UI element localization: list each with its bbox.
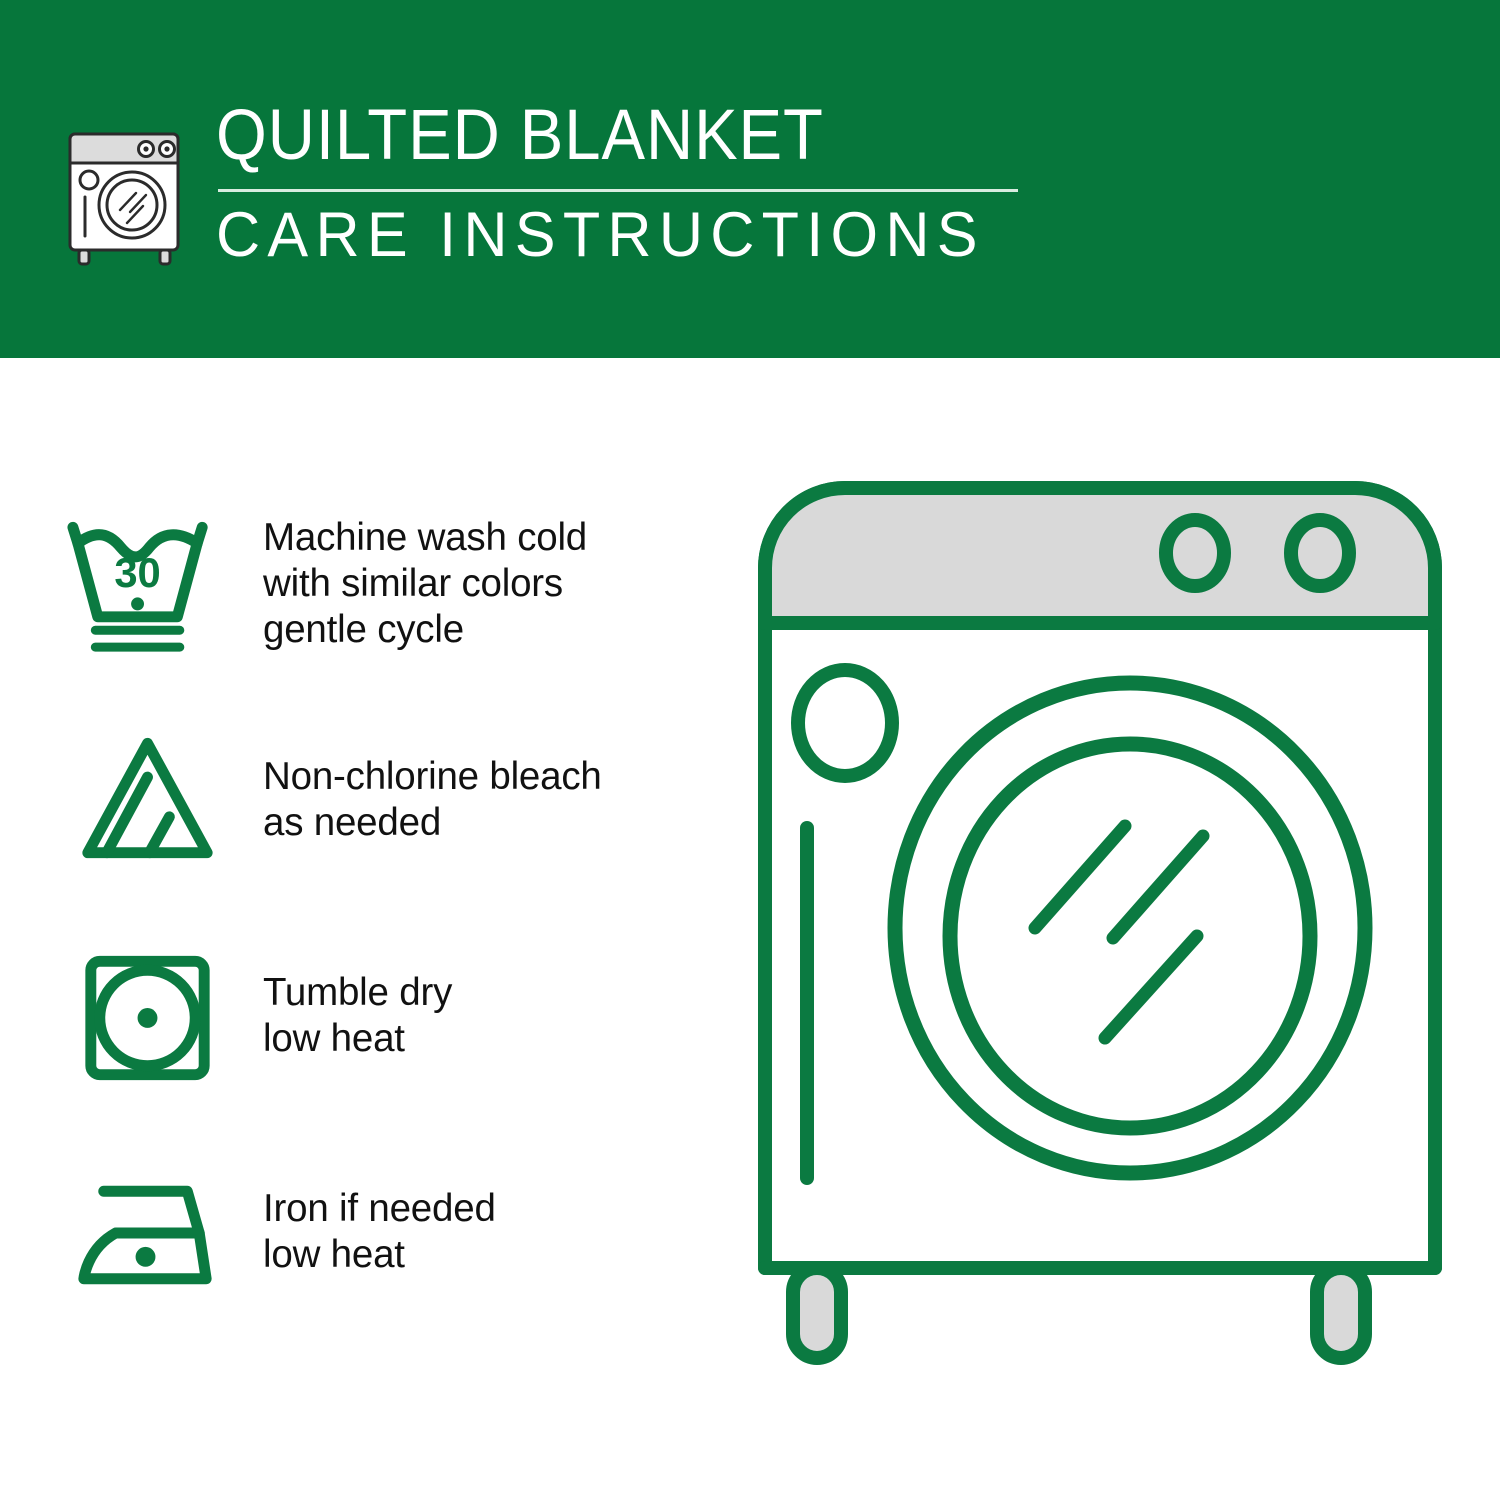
header-title-group: QUILTED BLANKET CARE INSTRUCTIONS [216,100,1018,267]
control-knob [1166,520,1224,586]
list-item-label: Machine wash cold with similar colors ge… [263,515,587,652]
machine-leg [1317,1268,1365,1358]
main-content: 30 Machine wash cold with similar colors… [0,358,1500,1500]
page-title: QUILTED BLANKET [216,100,954,171]
detergent-dispenser [798,670,892,776]
washing-machine-icon [62,108,194,268]
washing-machine-illustration [735,458,1465,1418]
list-item-label: Iron if needed low heat [263,1186,496,1278]
wash-temperature-value: 30 [114,549,160,596]
machine-leg [793,1268,841,1358]
list-item: Non-chlorine bleach as needed [60,714,720,886]
list-item: Tumble dry low heat [60,930,720,1102]
wash-tub-30-gentle-icon: 30 [60,509,235,659]
tumble-dry-low-heat-icon [60,941,235,1091]
title-divider [218,189,1018,192]
list-item-label: Non-chlorine bleach as needed [263,754,602,846]
header-content: QUILTED BLANKET CARE INSTRUCTIONS [62,100,1018,268]
page-subtitle: CARE INSTRUCTIONS [216,204,994,267]
header-banner: QUILTED BLANKET CARE INSTRUCTIONS [0,0,1500,358]
drum-inner-ring [950,744,1310,1128]
list-item: 30 Machine wash cold with similar colors… [60,498,720,670]
control-knob [1291,520,1349,586]
iron-low-heat-icon [60,1157,235,1307]
list-item-label: Tumble dry low heat [263,970,452,1062]
non-chlorine-bleach-triangle-icon [60,725,235,875]
care-instruction-list: 30 Machine wash cold with similar colors… [60,498,720,1318]
list-item: Iron if needed low heat [60,1146,720,1318]
